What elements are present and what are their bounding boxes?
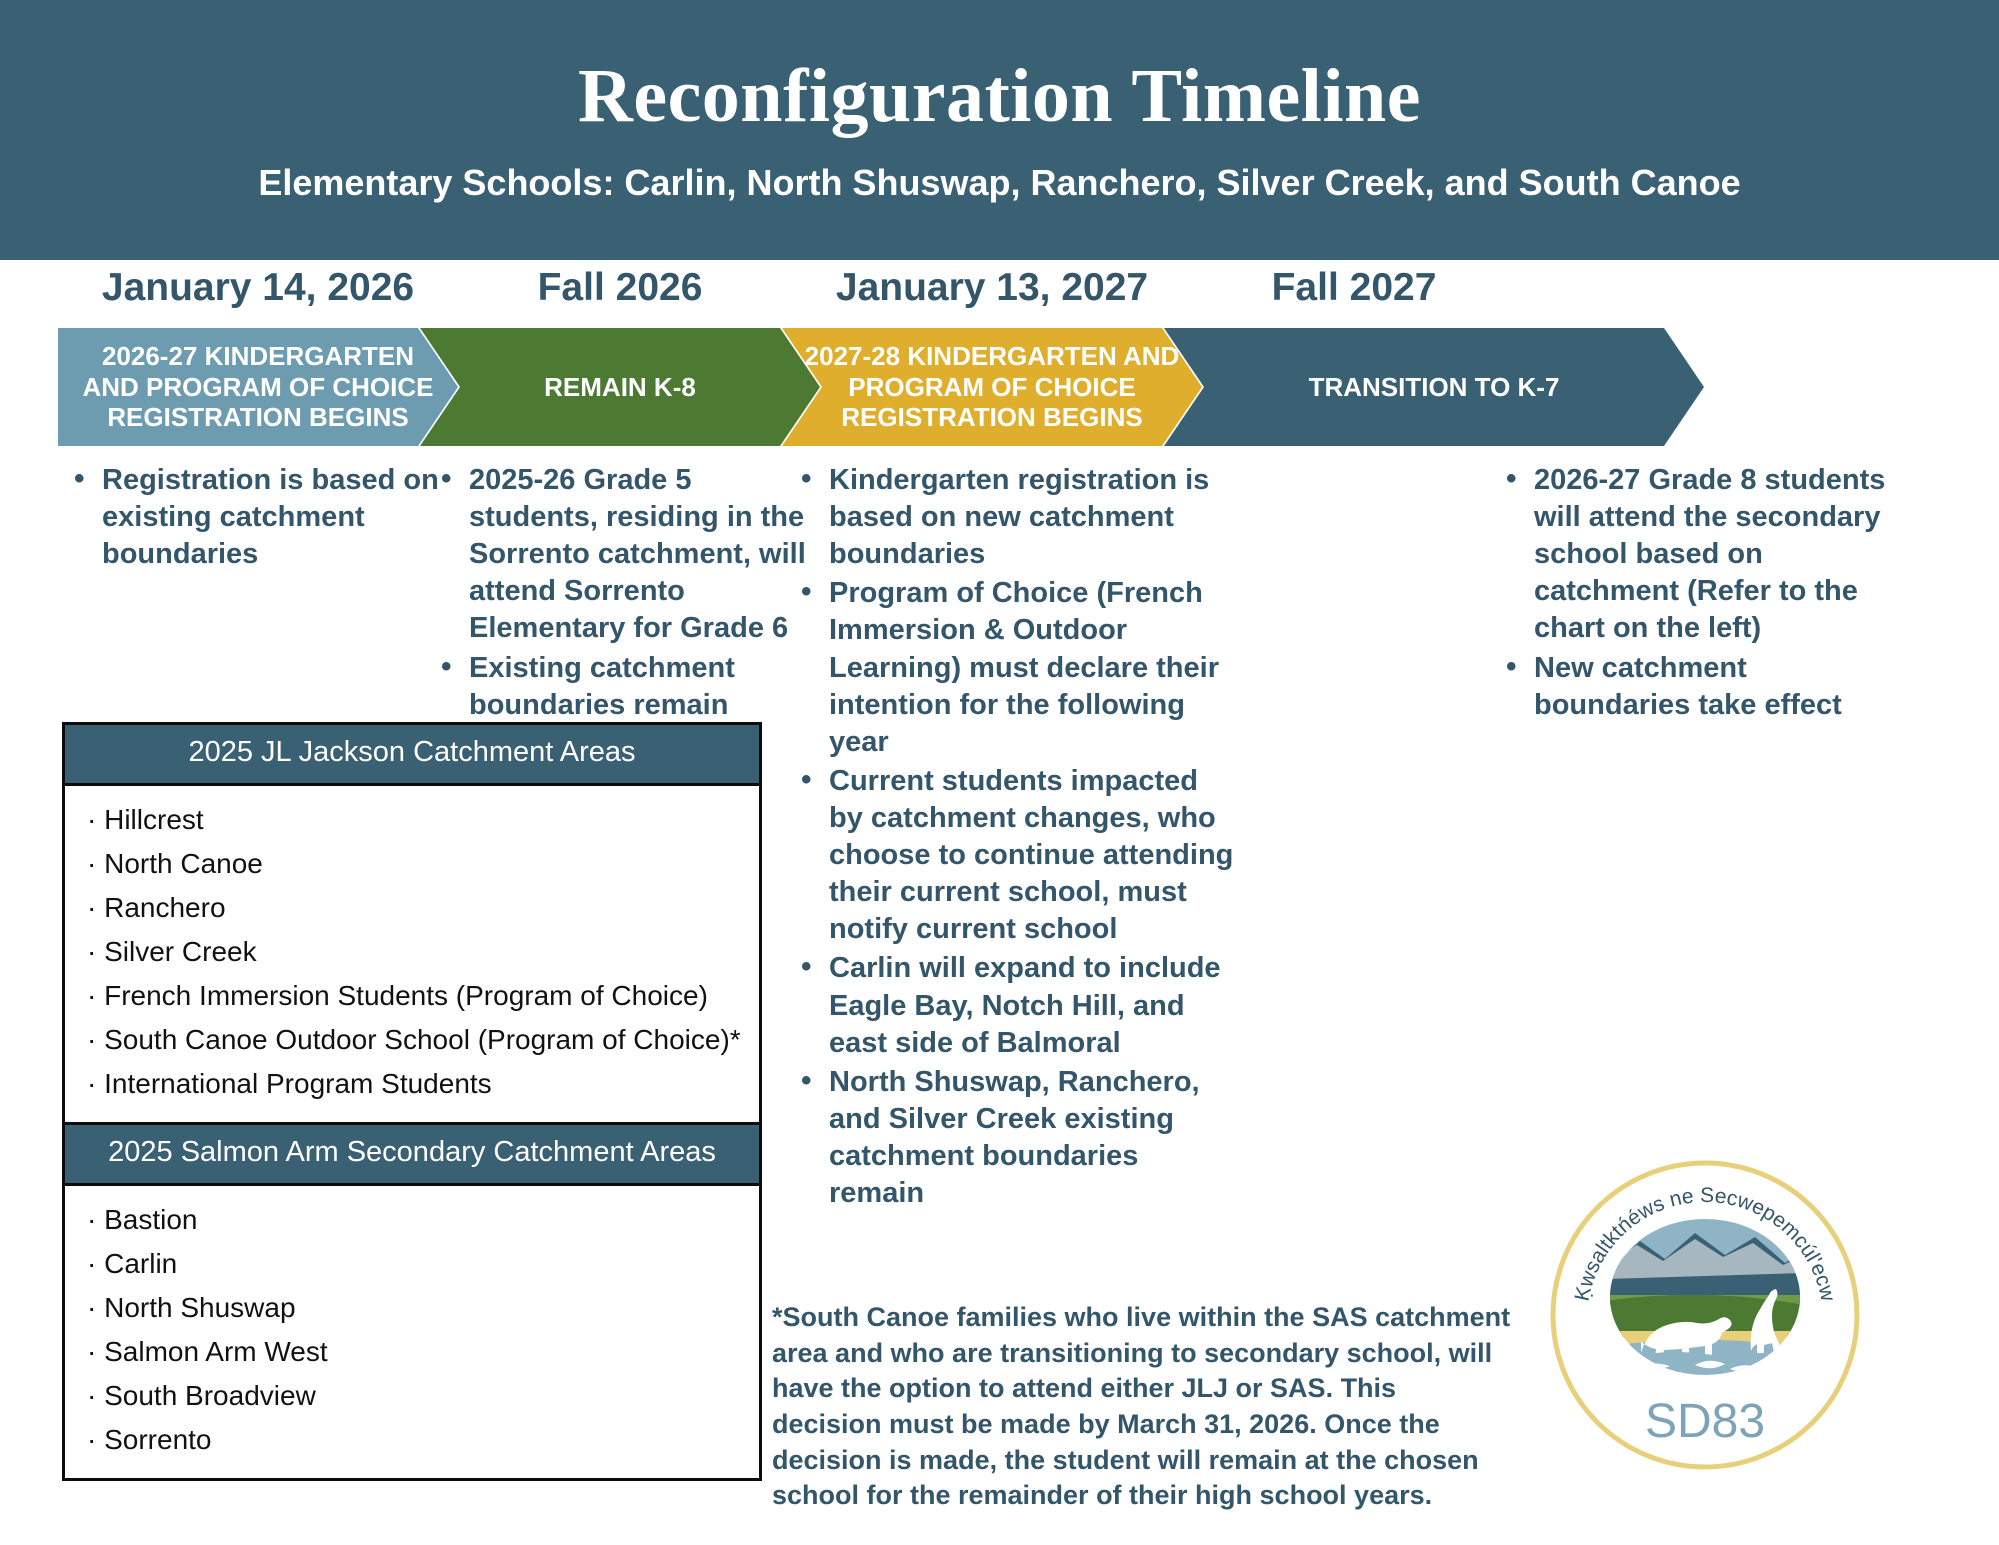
- list-item: South Canoe Outdoor School (Program of C…: [65, 1018, 759, 1062]
- catchment-list-sas: Bastion Carlin North Shuswap Salmon Arm …: [65, 1186, 759, 1478]
- timeline-column-4: Fall 2027 TRANSITION TO K-7: [1164, 260, 1704, 450]
- list-item: 2025-26 Grade 5 students, residing in th…: [425, 462, 825, 648]
- list-item: Salmon Arm West: [65, 1330, 759, 1374]
- list-item: French Immersion Students (Program of Ch…: [65, 974, 759, 1018]
- list-item: International Program Students: [65, 1062, 759, 1106]
- list-item: North Shuswap, Ranchero, and Silver Cree…: [785, 1064, 1235, 1212]
- footnote-text: *South Canoe families who live within th…: [772, 1300, 1512, 1514]
- timeline-column-3: January 13, 2027 2027-28 KINDERGARTEN AN…: [782, 260, 1202, 450]
- timeline-banner-4: TRANSITION TO K-7: [1164, 328, 1704, 446]
- bullet-list-column-4: 2026-27 Grade 8 students will attend the…: [1490, 462, 1910, 726]
- list-item: Existing catchment boundaries remain: [425, 650, 825, 724]
- timeline-date-3: January 13, 2027: [782, 266, 1202, 310]
- list-item: Current students impacted by catchment c…: [785, 763, 1235, 949]
- bullet-list-column-1: Registration is based on existing catchm…: [58, 462, 458, 575]
- timeline-banner-label-3: 2027-28 KINDERGARTEN AND PROGRAM OF CHOI…: [782, 341, 1202, 433]
- page-subtitle: Elementary Schools: Carlin, North Shuswa…: [258, 163, 1740, 203]
- bullet-list-column-3: Kindergarten registration is based on ne…: [785, 462, 1235, 1214]
- timeline-date-4: Fall 2027: [1164, 266, 1544, 310]
- catchment-areas-table: 2025 JL Jackson Catchment Areas Hillcres…: [62, 722, 762, 1481]
- list-item: Sorrento: [65, 1418, 759, 1462]
- list-item: New catchment boundaries take effect: [1490, 650, 1910, 724]
- logo-acronym: SD83: [1645, 1395, 1765, 1448]
- page-header: Reconfiguration Timeline Elementary Scho…: [0, 0, 1999, 260]
- timeline-banner-3: 2027-28 KINDERGARTEN AND PROGRAM OF CHOI…: [782, 328, 1202, 446]
- timeline-date-2: Fall 2026: [420, 266, 820, 310]
- catchment-list-jlj: Hillcrest North Canoe Ranchero Silver Cr…: [65, 786, 759, 1122]
- list-item: Kindergarten registration is based on ne…: [785, 462, 1235, 573]
- list-item: Carlin: [65, 1242, 759, 1286]
- timeline-date-1: January 14, 2026: [58, 266, 458, 310]
- sd83-logo: Ḳwsaltktńéws ne Secwepemcúl'ecw SD83: [1545, 1155, 1865, 1475]
- timeline-banner-row: January 14, 2026 2026-27 KINDERGARTEN AN…: [0, 260, 1999, 450]
- catchment-section-header-sas: 2025 Salmon Arm Secondary Catchment Area…: [65, 1122, 759, 1186]
- catchment-section-header-jlj: 2025 JL Jackson Catchment Areas: [65, 725, 759, 786]
- timeline-column-1: January 14, 2026 2026-27 KINDERGARTEN AN…: [58, 260, 458, 450]
- list-item: Registration is based on existing catchm…: [58, 462, 458, 573]
- timeline-banner-label-4: TRANSITION TO K-7: [1293, 372, 1576, 403]
- page-title: Reconfiguration Timeline: [578, 57, 1421, 137]
- list-item: Hillcrest: [65, 798, 759, 842]
- list-item: Bastion: [65, 1198, 759, 1242]
- list-item: Carlin will expand to include Eagle Bay,…: [785, 950, 1235, 1061]
- list-item: 2026-27 Grade 8 students will attend the…: [1490, 462, 1910, 648]
- timeline-column-2: Fall 2026 REMAIN K-8: [420, 260, 820, 450]
- list-item: North Canoe: [65, 842, 759, 886]
- timeline-banner-label-1: 2026-27 KINDERGARTEN AND PROGRAM OF CHOI…: [58, 341, 458, 433]
- timeline-banner-2: REMAIN K-8: [420, 328, 820, 446]
- list-item: South Broadview: [65, 1374, 759, 1418]
- list-item: Ranchero: [65, 886, 759, 930]
- list-item: North Shuswap: [65, 1286, 759, 1330]
- bullet-list-column-2: 2025-26 Grade 5 students, residing in th…: [425, 462, 825, 726]
- list-item: Program of Choice (French Immersion & Ou…: [785, 575, 1235, 761]
- timeline-banner-1: 2026-27 KINDERGARTEN AND PROGRAM OF CHOI…: [58, 328, 458, 446]
- list-item: Silver Creek: [65, 930, 759, 974]
- timeline-banner-label-2: REMAIN K-8: [528, 372, 712, 403]
